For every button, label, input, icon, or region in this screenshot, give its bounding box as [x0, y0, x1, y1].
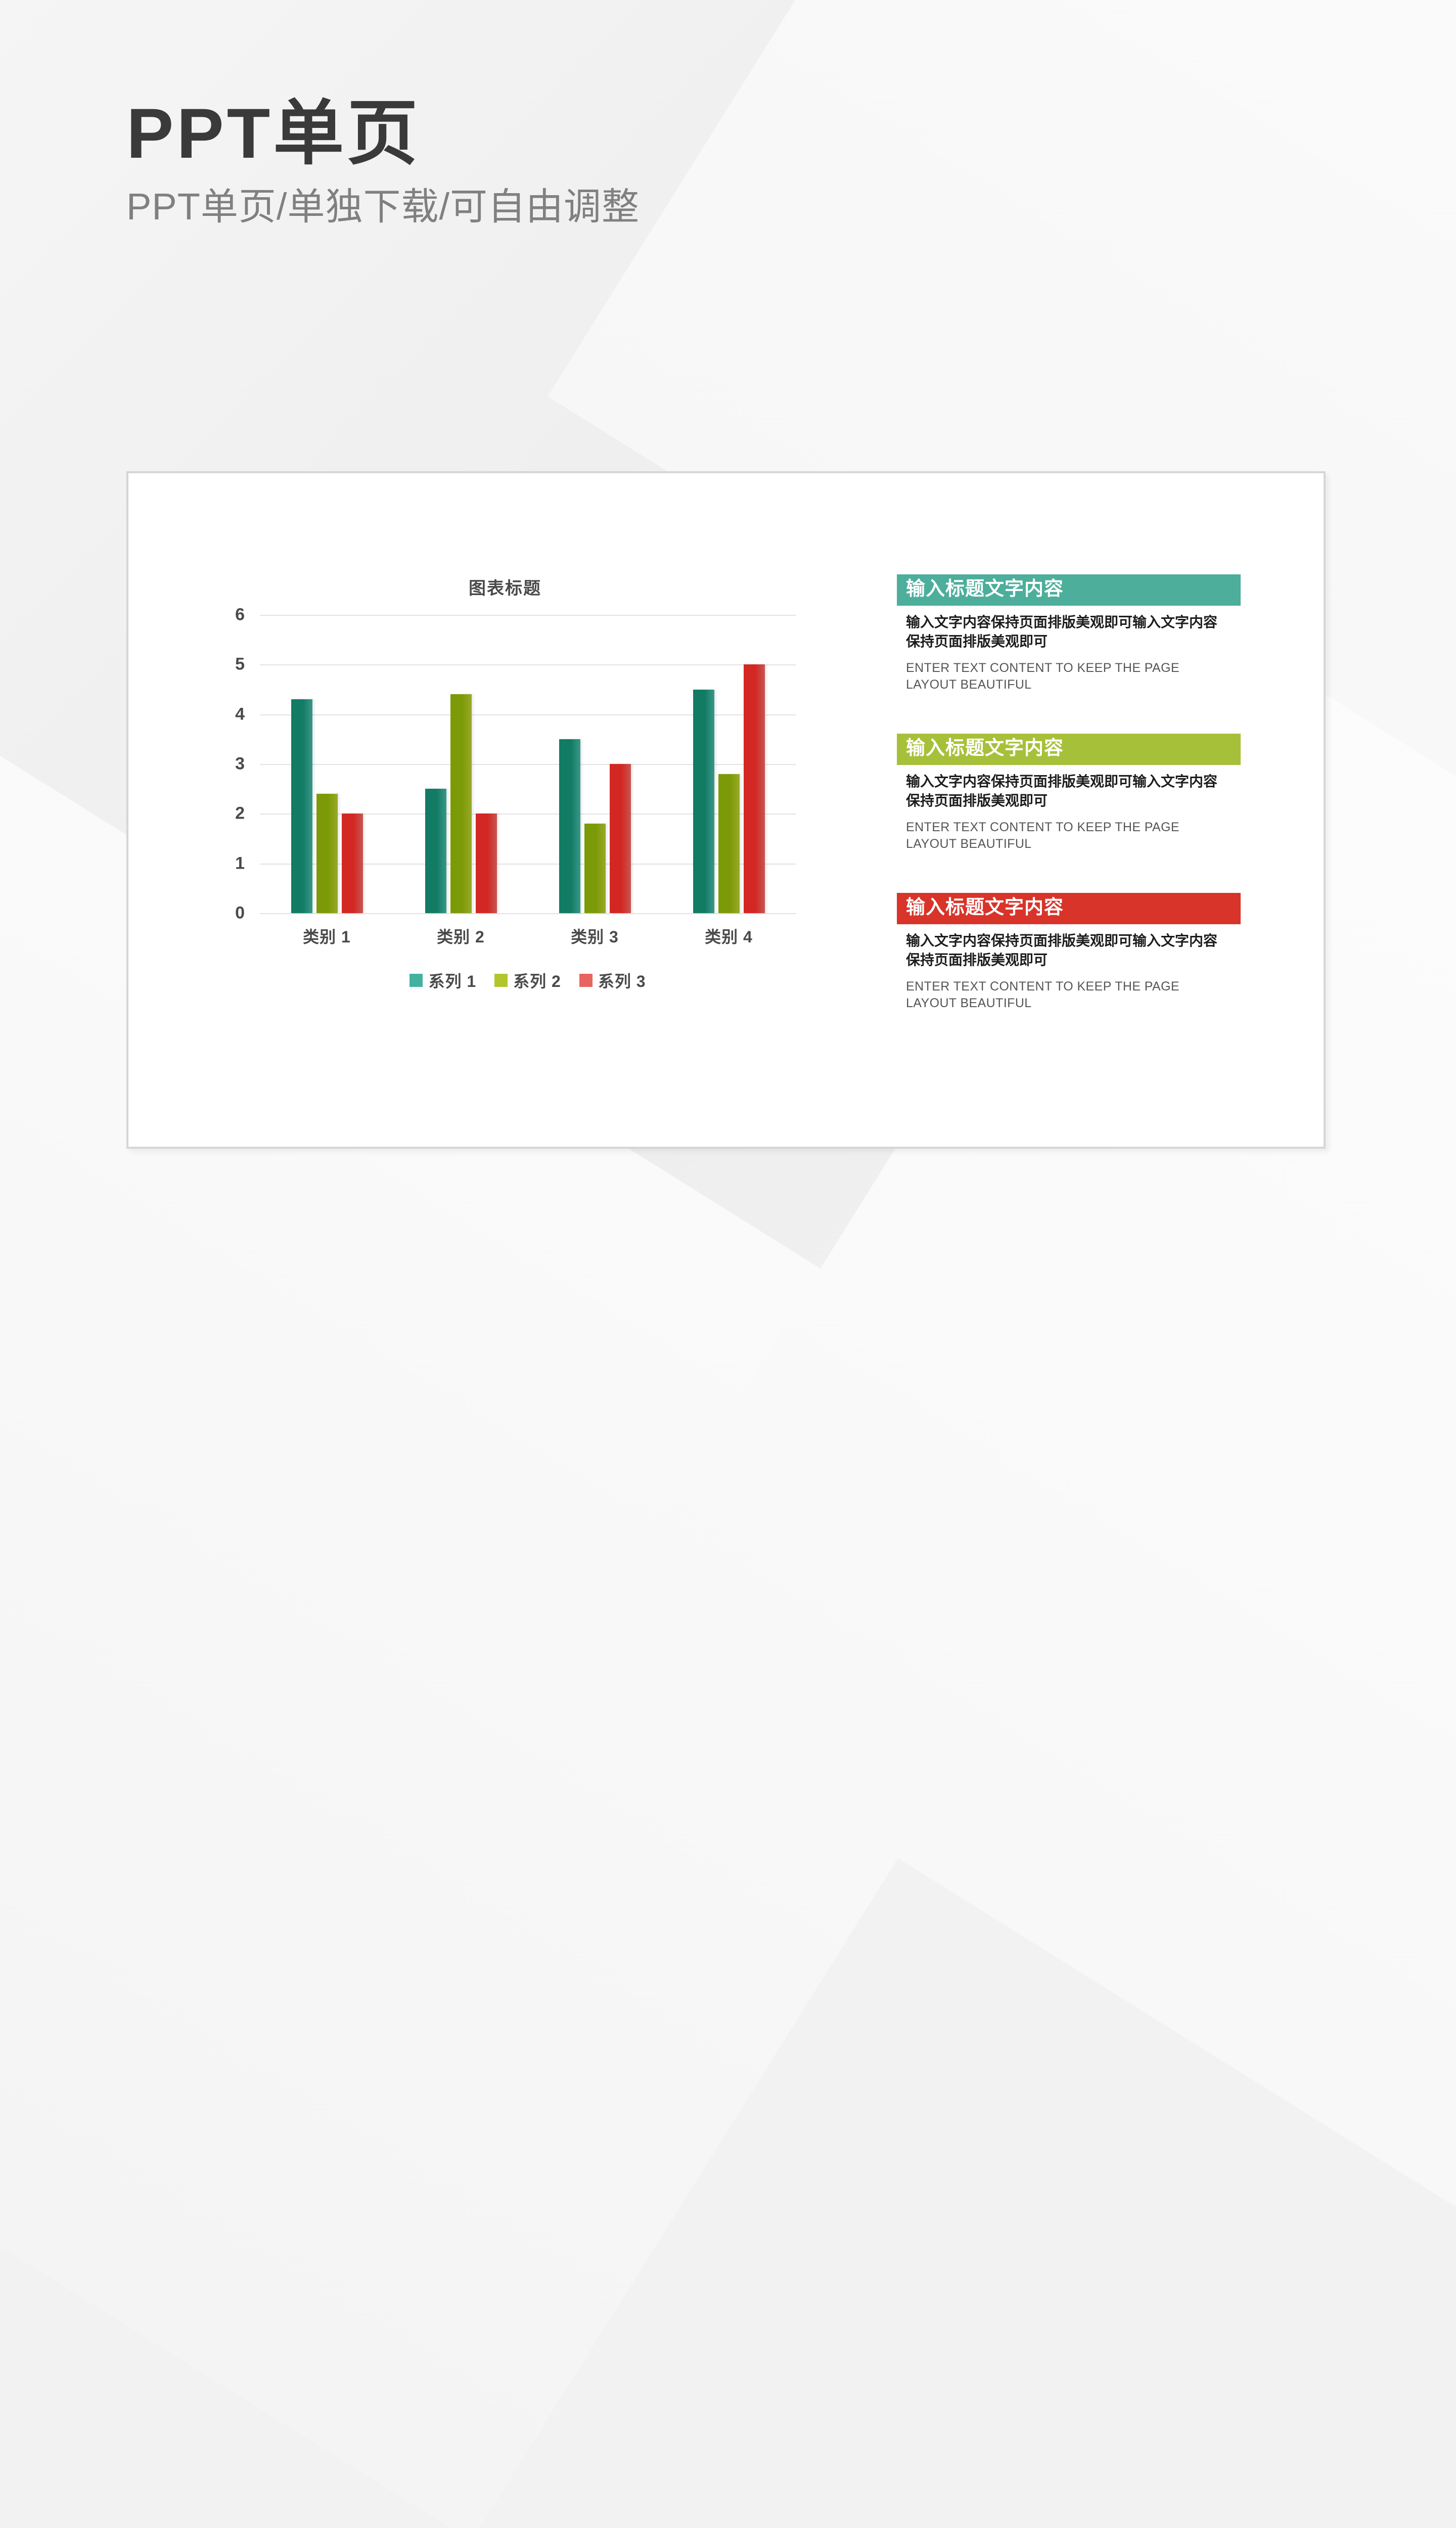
chart-category-group [260, 615, 394, 913]
chart-bar[interactable] [610, 764, 631, 913]
legend-swatch-icon [409, 974, 423, 987]
info-block-heading: 输入标题文字内容 [897, 574, 1241, 606]
chart-bar[interactable] [450, 694, 472, 913]
info-block-body-en: ENTER TEXT CONTENT TO KEEP THE PAGE LAYO… [897, 978, 1220, 1012]
chart-legend: 系列 1系列 2系列 3 [260, 969, 796, 992]
chart-gridline [260, 913, 796, 914]
chart-y-axis: 6543210 [224, 615, 253, 913]
x-axis-category-label: 类别 4 [662, 924, 796, 947]
page-header: PPT单页 PPT单页/单独下载/可自由调整 [126, 96, 640, 230]
y-axis-tick-label: 0 [235, 904, 245, 923]
info-block-heading: 输入标题文字内容 [897, 734, 1241, 765]
legend-swatch-icon [579, 974, 593, 987]
chart-category-group [662, 615, 796, 913]
chart-bar[interactable] [559, 739, 580, 913]
y-axis-tick-label: 3 [235, 754, 245, 774]
info-block: 输入标题文字内容输入文字内容保持页面排版美观即可输入文字内容保持页面排版美观即可… [897, 574, 1241, 693]
x-axis-category-label: 类别 3 [528, 924, 662, 947]
y-axis-tick-label: 2 [235, 804, 245, 824]
info-block-body-cn: 输入文字内容保持页面排版美观即可输入文字内容保持页面排版美观即可 [897, 931, 1220, 970]
chart-bar[interactable] [693, 690, 714, 914]
legend-item-label: 系列 3 [598, 969, 646, 992]
chart-category-group [394, 615, 528, 913]
info-block: 输入标题文字内容输入文字内容保持页面排版美观即可输入文字内容保持页面排版美观即可… [897, 734, 1241, 852]
y-axis-tick-label: 1 [235, 853, 245, 873]
chart-x-axis-labels: 类别 1类别 2类别 3类别 4 [260, 924, 796, 947]
legend-item[interactable]: 系列 3 [579, 969, 646, 992]
info-block-body-en: ENTER TEXT CONTENT TO KEEP THE PAGE LAYO… [897, 819, 1220, 852]
info-block-body-cn: 输入文字内容保持页面排版美观即可输入文字内容保持页面排版美观即可 [897, 613, 1220, 652]
chart-category-group [528, 615, 662, 913]
chart-bar[interactable] [316, 794, 338, 913]
chart-bar[interactable] [476, 814, 497, 913]
bar-chart: 图表标题 6543210 类别 1类别 2类别 3类别 4 系列 1系列 2系列… [224, 574, 846, 1029]
chart-bar[interactable] [291, 699, 312, 913]
legend-item[interactable]: 系列 2 [494, 969, 561, 992]
x-axis-category-label: 类别 1 [260, 924, 394, 947]
legend-item[interactable]: 系列 1 [409, 969, 476, 992]
slide-preview-card[interactable]: 图表标题 6543210 类别 1类别 2类别 3类别 4 系列 1系列 2系列… [126, 471, 1326, 1149]
chart-bar[interactable] [425, 789, 446, 913]
info-panel: 输入标题文字内容输入文字内容保持页面排版美观即可输入文字内容保持页面排版美观即可… [897, 574, 1241, 1012]
info-block: 输入标题文字内容输入文字内容保持页面排版美观即可输入文字内容保持页面排版美观即可… [897, 893, 1241, 1012]
chart-bar[interactable] [744, 664, 765, 913]
chart-bar[interactable] [718, 774, 740, 913]
chart-plot-wrapper: 6543210 类别 1类别 2类别 3类别 4 系列 1系列 2系列 3 [224, 615, 846, 938]
info-block-heading: 输入标题文字内容 [897, 893, 1241, 924]
y-axis-tick-label: 4 [235, 704, 245, 724]
chart-bars-container [260, 615, 796, 913]
chart-title: 图表标题 [164, 574, 846, 599]
chart-bar[interactable] [342, 814, 363, 913]
chart-plot-area [260, 615, 796, 913]
legend-item-label: 系列 1 [428, 969, 476, 992]
x-axis-category-label: 类别 2 [394, 924, 528, 947]
y-axis-tick-label: 6 [235, 605, 245, 625]
page-title: PPT单页 [126, 96, 640, 170]
page-subtitle: PPT单页/单独下载/可自由调整 [126, 185, 640, 230]
chart-bar[interactable] [584, 824, 606, 913]
legend-item-label: 系列 2 [513, 969, 561, 992]
info-block-body-en: ENTER TEXT CONTENT TO KEEP THE PAGE LAYO… [897, 660, 1220, 693]
legend-swatch-icon [494, 974, 508, 987]
info-block-body-cn: 输入文字内容保持页面排版美观即可输入文字内容保持页面排版美观即可 [897, 772, 1220, 811]
y-axis-tick-label: 5 [235, 655, 245, 674]
